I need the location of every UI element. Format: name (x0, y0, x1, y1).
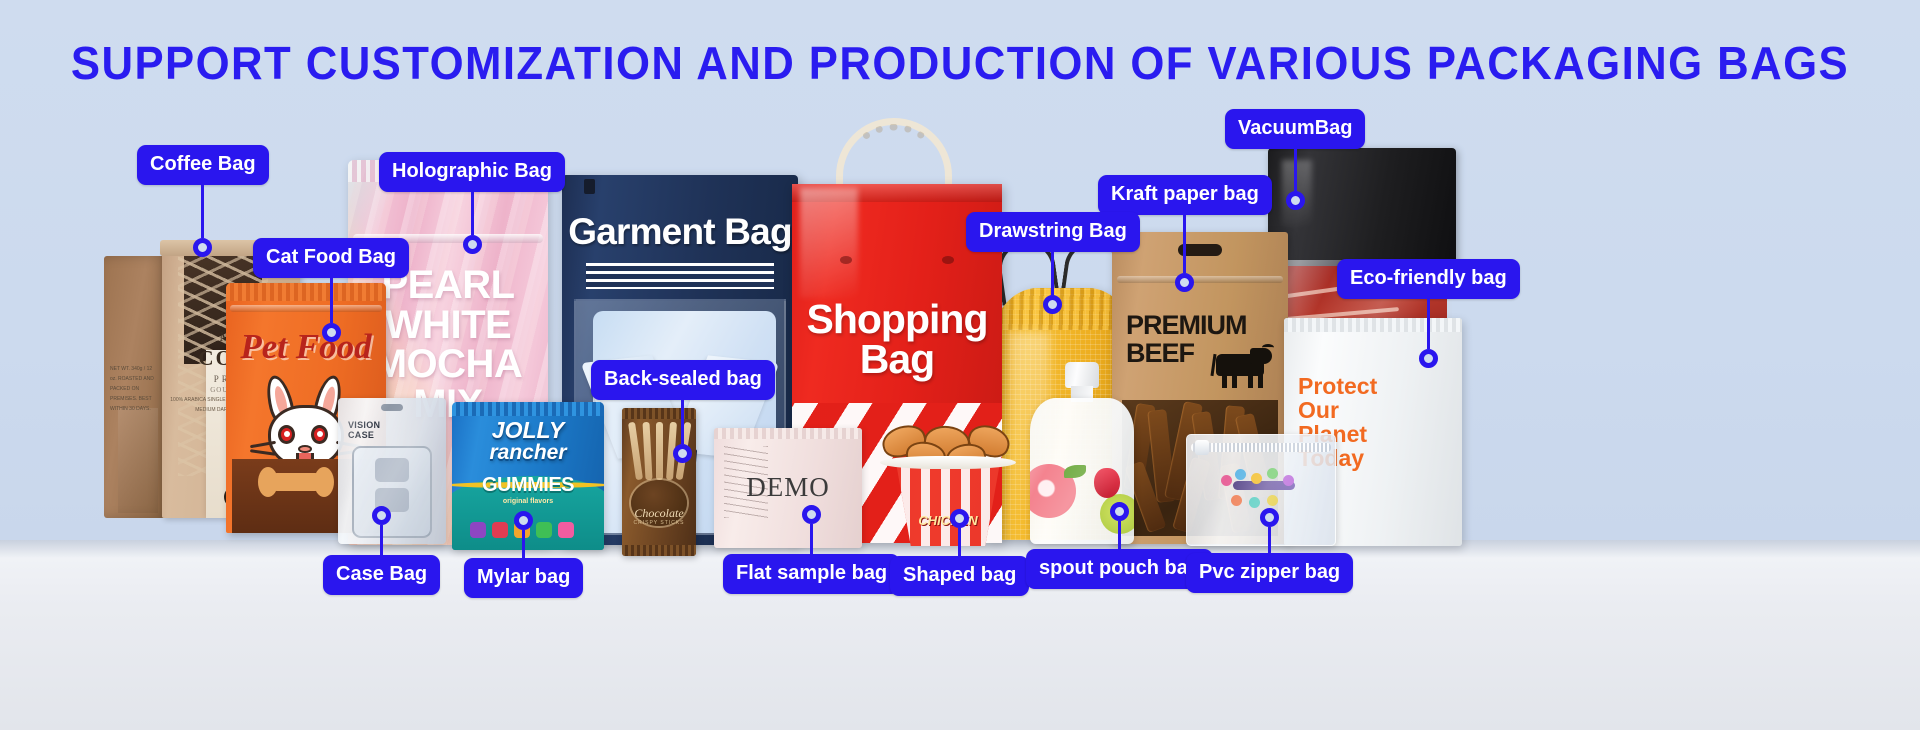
product-flat-sample-bag: DEMO (714, 428, 862, 548)
callout-back-sealed-bag[interactable]: Back-sealed bag (591, 360, 775, 400)
callout-holographic-bag-label[interactable]: Holographic Bag (379, 152, 565, 192)
bead-item (1267, 468, 1278, 479)
gummy-candy (536, 522, 552, 538)
case-line1: VISION (348, 420, 380, 430)
pet-food-title: Pet Food (226, 327, 386, 367)
callout-cat-food-bag-label[interactable]: Cat Food Bag (253, 238, 409, 278)
leader-line (958, 528, 961, 556)
callout-back-sealed-bag-label[interactable]: Back-sealed bag (591, 360, 775, 400)
callout-case-bag-label[interactable]: Case Bag (323, 555, 440, 595)
bead-item (1251, 473, 1262, 484)
leaf-illustration (1064, 465, 1086, 478)
bone-icon (268, 473, 324, 491)
biscuit-stick (628, 422, 643, 480)
mylar-line3: GUMMIES (452, 474, 604, 497)
ring-marker (322, 323, 341, 342)
back-sealed-top-crimp (622, 408, 696, 419)
gummy-candy (558, 522, 574, 538)
product-back-sealed-bag: Chocolate CRISPY STICKS (622, 408, 696, 556)
callout-eco-friendly-bag-label[interactable]: Eco-friendly bag (1337, 259, 1520, 299)
case-line2: CASE (348, 430, 380, 440)
bead-item (1235, 469, 1246, 480)
handle-eyelet-left (840, 256, 852, 264)
callout-vacuum-bag-label[interactable]: VacuumBag (1225, 109, 1365, 149)
callout-shaped-bag-label[interactable]: Shaped bag (890, 556, 1029, 596)
kraft-bag-zipper (1117, 276, 1283, 283)
bead-item (1231, 495, 1242, 506)
callout-cat-food-bag[interactable]: Cat Food Bag (253, 238, 409, 278)
leader-line (330, 278, 333, 323)
eco-bag-top-crimp (1284, 318, 1462, 332)
cow-leg (1248, 374, 1253, 388)
kraft-line1: PREMIUM (1126, 312, 1274, 340)
leader-line (1268, 527, 1271, 553)
rabbit-nose (298, 445, 312, 453)
shopping-bag-gloss (800, 188, 858, 298)
shaped-bag-title: CHICKEN (886, 513, 1010, 528)
back-sealed-bottom-crimp (622, 545, 696, 556)
pet-food-zipper (230, 305, 382, 312)
ring-marker (463, 235, 482, 254)
bucket-stripes (886, 462, 1010, 546)
case-bag-body: VISION CASE (338, 398, 446, 544)
ring-marker (802, 505, 821, 524)
case-bag-branding: VISION CASE (348, 420, 380, 441)
callout-shaped-bag[interactable]: Shaped bag (890, 556, 1029, 596)
mylar-line4: original flavors (452, 498, 604, 505)
ring-marker (372, 506, 391, 525)
callout-drawstring-bag[interactable]: Drawstring Bag (966, 212, 1140, 252)
callout-kraft-paper-bag-label[interactable]: Kraft paper bag (1098, 175, 1272, 215)
shopping-bag-title: Shopping Bag (792, 300, 1002, 380)
callout-kraft-paper-bag[interactable]: Kraft paper bag (1098, 175, 1272, 215)
product-shaped-bag: CHICKEN (872, 420, 1024, 546)
cow-leg (1232, 374, 1237, 388)
shaped-bag-bucket-body: CHICKEN (886, 462, 1010, 546)
biscuit-stick (642, 422, 652, 480)
cow-leg (1258, 374, 1263, 388)
leader-line (681, 400, 684, 444)
product-pvc-zipper-bag (1186, 434, 1336, 546)
callout-vacuum-bag[interactable]: VacuumBag (1225, 109, 1365, 149)
back-sealed-bag-body: Chocolate CRISPY STICKS (622, 408, 696, 556)
spout-cap[interactable] (1065, 362, 1099, 388)
rabbit-eye-left (278, 425, 295, 444)
callout-coffee-bag-label[interactable]: Coffee Bag (137, 145, 269, 185)
bead-item (1267, 495, 1278, 506)
cow-leg (1222, 374, 1227, 388)
coffee-bag-side-text: NET WT. 340g / 12 oz. ROASTED AND PACKED… (110, 364, 156, 414)
eco-line1: Protect (1298, 374, 1377, 398)
bucket-rim (880, 456, 1016, 469)
cow-horn (1262, 344, 1274, 351)
callout-mylar-bag-label[interactable]: Mylar bag (464, 558, 583, 598)
leader-line (810, 524, 813, 554)
callout-pvc-zipper-bag-label[interactable]: Pvc zipper bag (1186, 553, 1353, 593)
back-sealed-title: Chocolate (622, 506, 696, 521)
flat-sample-bag-body: DEMO (714, 428, 862, 548)
back-sealed-subtitle: CRISPY STICKS (622, 520, 696, 526)
pet-food-top-crimp (226, 283, 386, 301)
shopping-line2: Bag (792, 340, 1002, 380)
mylar-brand: JOLLY rancher (452, 420, 604, 463)
biscuit-stick (656, 422, 663, 480)
callout-mylar-bag[interactable]: Mylar bag (464, 558, 583, 598)
euro-hole-icon (381, 404, 403, 411)
leader-line (1294, 149, 1297, 191)
bead-item (1221, 475, 1232, 486)
garment-bag-title: Garment Bag (562, 211, 798, 253)
callout-case-bag[interactable]: Case Bag (323, 555, 440, 595)
product-case-bag: VISION CASE (338, 398, 446, 544)
mylar-line2: rancher (452, 443, 604, 463)
garment-bag-stripes (586, 263, 774, 289)
shopping-line1: Shopping (792, 300, 1002, 340)
callout-coffee-bag[interactable]: Coffee Bag (137, 145, 269, 185)
leader-line (1427, 299, 1430, 349)
bead-item (1283, 475, 1294, 486)
pvc-zipper-bag-body (1186, 434, 1336, 546)
callout-pvc-zipper-bag[interactable]: Pvc zipper bag (1186, 553, 1353, 593)
page-title-text: SUPPORT CUSTOMIZATION AND PRODUCTION OF … (71, 36, 1849, 90)
flat-sample-top-crimp (714, 428, 862, 439)
camera-cutout (375, 458, 409, 482)
mylar-line1: JOLLY (492, 417, 564, 443)
gummy-candy (492, 522, 508, 538)
page-title: SUPPORT CUSTOMIZATION AND PRODUCTION OF … (48, 36, 1872, 90)
zipper-slider-icon[interactable] (1195, 440, 1209, 455)
callout-eco-friendly-bag[interactable]: Eco-friendly bag (1337, 259, 1520, 299)
gummy-candy (470, 522, 486, 538)
leader-line (471, 192, 474, 235)
bead-item (1249, 497, 1260, 508)
callout-flat-sample-bag[interactable]: Flat sample bag (723, 554, 900, 594)
ring-marker (1110, 502, 1129, 521)
ring-marker (1286, 191, 1305, 210)
mylar-top-crimp (452, 402, 604, 416)
leader-line (522, 530, 525, 558)
pvc-zipper-track (1191, 443, 1331, 452)
callout-drawstring-bag-label[interactable]: Drawstring Bag (966, 212, 1140, 252)
handle-eyelet-right (942, 256, 954, 264)
leader-line (1118, 521, 1121, 549)
ring-marker (1419, 349, 1438, 368)
phone-case-product (352, 446, 432, 538)
strawberry-illustration (1094, 468, 1120, 498)
rabbit-eye-right (311, 425, 328, 444)
banner-stage: SUPPORT CUSTOMIZATION AND PRODUCTION OF … (0, 0, 1920, 730)
leader-line (1183, 215, 1186, 273)
cow-icon (1206, 344, 1274, 386)
zipper-slider-icon (584, 179, 595, 194)
ring-marker (1260, 508, 1279, 527)
callout-holographic-bag[interactable]: Holographic Bag (379, 152, 565, 192)
leader-line (201, 185, 204, 238)
flat-sample-title: DEMO (714, 472, 862, 503)
leader-line (380, 525, 383, 555)
leader-line (1051, 252, 1054, 295)
eco-line2: Our (1298, 398, 1377, 422)
callout-flat-sample-bag-label[interactable]: Flat sample bag (723, 554, 900, 594)
